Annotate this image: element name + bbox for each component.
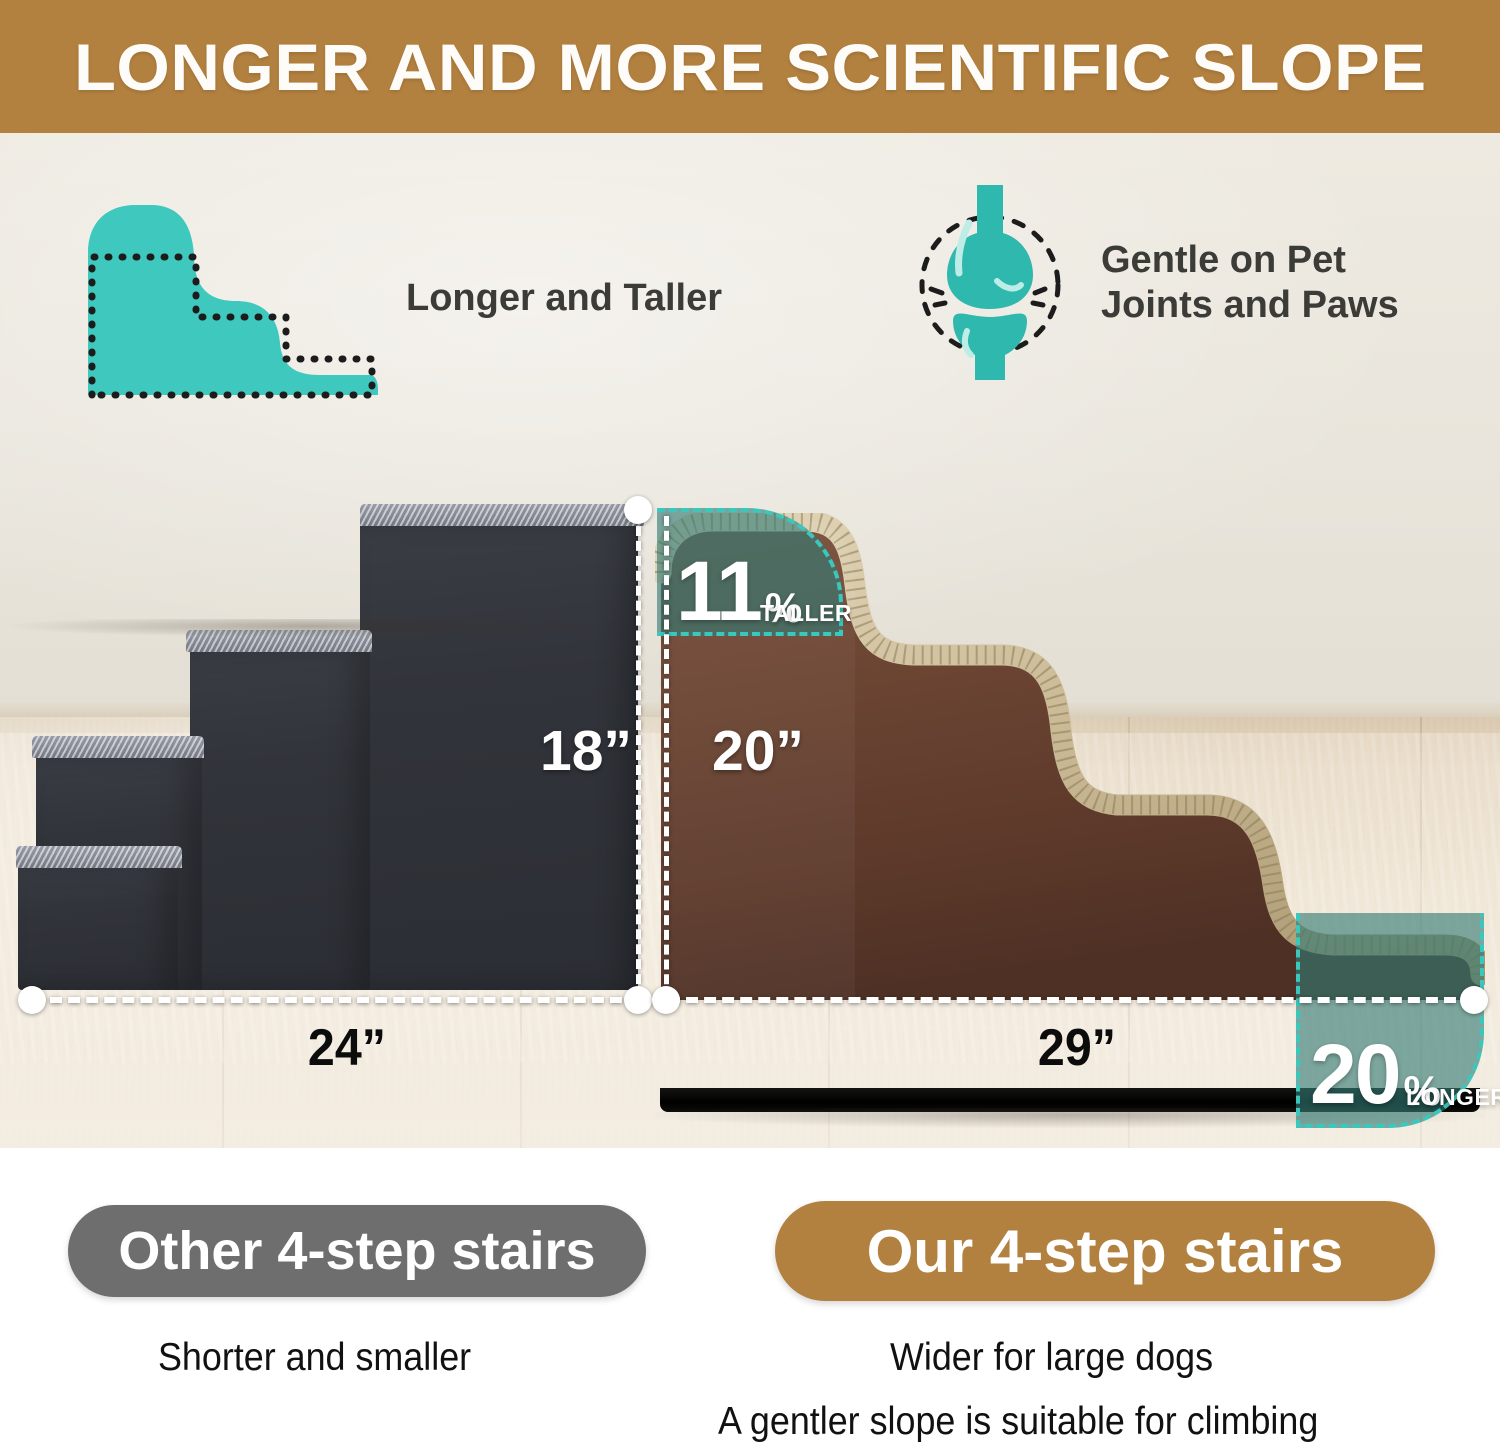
our-height-label: 20” <box>712 718 804 784</box>
page-title: LONGER AND MORE SCIENTIFIC SLOPE <box>74 29 1427 105</box>
our-caption-2: A gentler slope is suitable for climbing <box>718 1400 1318 1444</box>
other-height-top-dot <box>624 496 652 524</box>
our-caption-1: Wider for large dogs <box>890 1336 1213 1380</box>
comparison-footer: Other 4-step stairs Our 4-step stairs Sh… <box>0 1148 1500 1452</box>
taller-badge-sub: TALLER <box>760 600 852 627</box>
pet-joint-icon <box>905 185 1075 380</box>
other-height-line <box>636 511 641 999</box>
other-product-pill[interactable]: Other 4-step stairs <box>68 1205 646 1297</box>
taller-badge-number: 11 <box>676 557 761 626</box>
other-width-left-dot <box>18 986 46 1014</box>
our-product-pill[interactable]: Our 4-step stairs <box>775 1201 1435 1301</box>
other-width-right-dot <box>624 986 652 1014</box>
longer-badge-number: 20 <box>1310 1040 1399 1109</box>
our-width-right-dot <box>1460 986 1488 1014</box>
other-width-label: 24” <box>308 1018 386 1078</box>
longer-badge-sub: LONGER <box>1406 1084 1500 1111</box>
feature-longer-and-taller: Longer and Taller <box>80 193 722 403</box>
stairs-outline-icon <box>80 193 380 403</box>
other-stairs-shadow <box>10 619 620 637</box>
other-caption-1: Shorter and smaller <box>158 1336 471 1380</box>
our-height-line <box>664 516 669 999</box>
header-banner: LONGER AND MORE SCIENTIFIC SLOPE <box>0 0 1500 133</box>
our-width-line <box>668 997 1474 1003</box>
feature-longer-and-taller-label: Longer and Taller <box>406 276 722 321</box>
other-height-label: 18” <box>540 718 632 784</box>
feature-gentle-on-joints: Gentle on Pet Joints and Paws <box>905 185 1399 380</box>
feature-gentle-on-joints-label: Gentle on Pet Joints and Paws <box>1101 238 1399 328</box>
our-width-left-dot <box>652 986 680 1014</box>
our-width-label: 29” <box>1038 1018 1116 1078</box>
other-width-line <box>32 997 640 1003</box>
product-photo-stage: 11 % TALLER 20 % LONGER 18” 20” 24” 29” … <box>0 133 1500 1148</box>
